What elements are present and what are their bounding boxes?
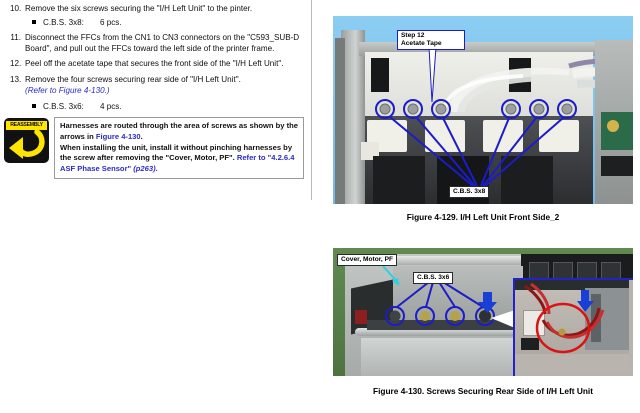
- step-text: Disconnect the FFCs from the CN1 to CN3 …: [25, 33, 306, 55]
- step-text: Remove the four screws securing rear sid…: [25, 75, 306, 97]
- instruction-text-column: 10. Remove the six screws securing the "…: [0, 0, 318, 413]
- note-line2-page[interactable]: (p263): [131, 164, 155, 173]
- reassembly-note-box: Harnesses are routed through the area of…: [54, 117, 304, 179]
- callout-cbs-3x8: C.B.S. 3x8: [449, 186, 489, 198]
- figure-4-130-caption: Figure 4-130. Screws Securing Rear Side …: [333, 386, 633, 396]
- note-line1-b: .: [141, 132, 143, 141]
- document-page: 10. Remove the six screws securing the "…: [0, 0, 640, 413]
- u-turn-arrow-icon: [7, 129, 46, 161]
- callout-cbs-3x6: C.B.S. 3x6: [413, 272, 453, 284]
- inset-annotations: [515, 280, 629, 372]
- figure-reference-link[interactable]: (Refer to Figure 4-130.): [25, 86, 306, 97]
- step-number: 11.: [10, 33, 25, 55]
- reassembly-note: REASSEMBLY Harnesses are routed through …: [4, 117, 304, 183]
- figure-4-129: Step 12 Acetate Tape: [333, 16, 633, 204]
- bullet-cbs-3x6: C.B.S. 3x6: 4 pcs.: [32, 102, 122, 111]
- figure-4-130-photo: Cover, Motor, PF C.B.S. 3x6: [333, 248, 633, 376]
- step-item-11: 11. Disconnect the FFCs from the CN1 to …: [10, 33, 306, 55]
- step-number: 12.: [10, 59, 25, 70]
- square-bullet-icon: [32, 104, 36, 108]
- note-paragraph-2: When installing the unit, install it wit…: [60, 143, 298, 175]
- note-line1-link[interactable]: Figure 4-130: [96, 132, 141, 141]
- bullet-label: C.B.S. 3x8:: [43, 18, 100, 27]
- callout-step-12-acetate-tape: Step 12 Acetate Tape: [397, 30, 465, 50]
- step-item-13: 13. Remove the four screws securing rear…: [10, 75, 306, 97]
- inset-detail-photo: [513, 278, 633, 376]
- note-line2-end: .: [156, 164, 158, 173]
- reassembly-icon: REASSEMBLY: [4, 118, 49, 163]
- callout-cover-motor-pf: Cover, Motor, PF: [337, 254, 397, 266]
- step-text: Peel off the acetate tape that secures t…: [25, 59, 306, 70]
- square-bullet-icon: [32, 20, 36, 24]
- blue-down-arrow-icon: [478, 292, 497, 313]
- step-item-10: 10. Remove the six screws securing the "…: [10, 4, 306, 15]
- figure-4-129-annotations: [333, 16, 633, 204]
- figure-4-129-photo: Step 12 Acetate Tape: [333, 16, 633, 204]
- bullet-label: C.B.S. 3x6:: [43, 102, 100, 111]
- figure-4-129-caption: Figure 4-129. I/H Left Unit Front Side_2: [333, 212, 633, 222]
- step-text-main: Remove the four screws securing rear sid…: [25, 75, 241, 84]
- step-text: Remove the six screws securing the "I/H …: [25, 4, 306, 15]
- bullet-cbs-3x8: C.B.S. 3x8: 6 pcs.: [32, 18, 122, 27]
- page-margin-rule: [311, 0, 312, 200]
- step-item-12: 12. Peel off the acetate tape that secur…: [10, 59, 306, 70]
- bullet-quantity: 4 pcs.: [100, 102, 122, 111]
- note-paragraph-1: Harnesses are routed through the area of…: [60, 121, 298, 143]
- figure-4-130: Cover, Motor, PF C.B.S. 3x6: [333, 248, 633, 376]
- step-number: 13.: [10, 75, 25, 97]
- step-number: 10.: [10, 4, 25, 15]
- bullet-quantity: 6 pcs.: [100, 18, 122, 27]
